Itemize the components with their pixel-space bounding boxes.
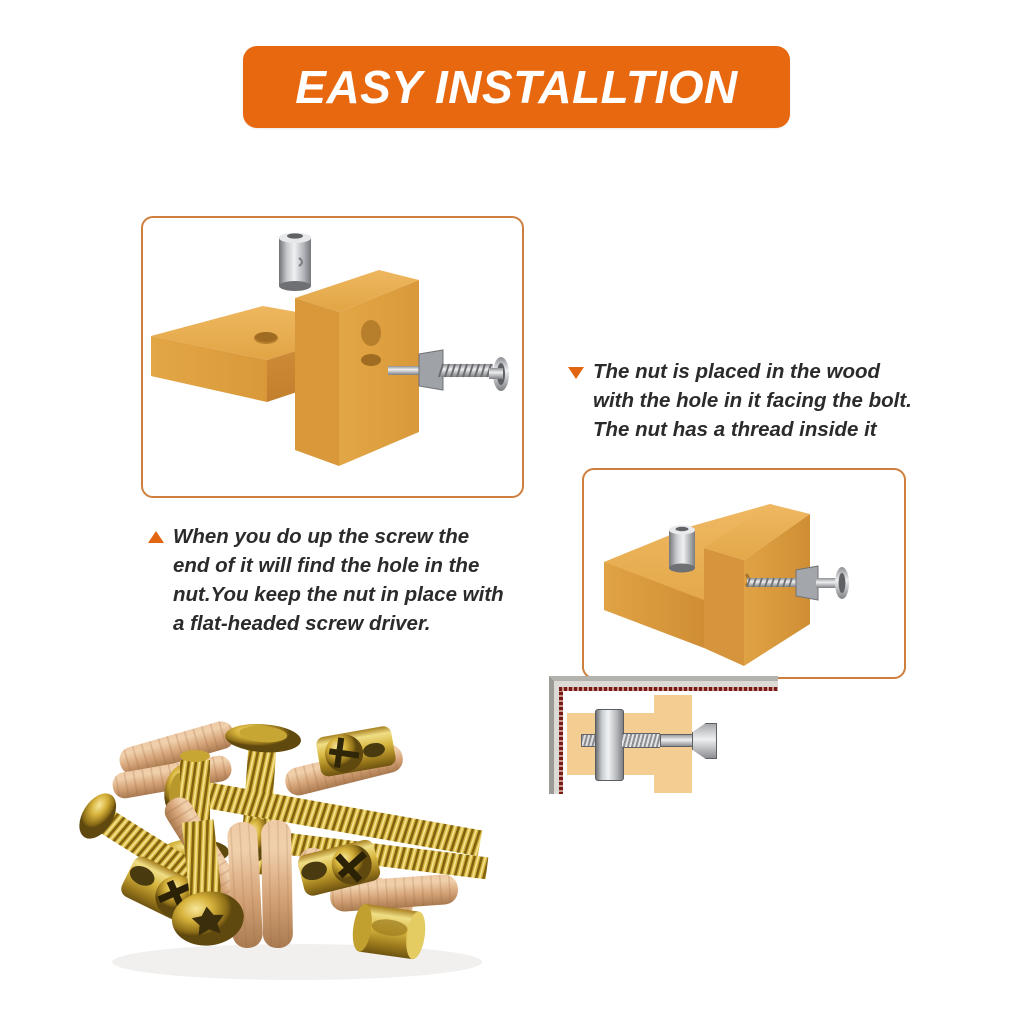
callout-nut-text: The nut is placed in the wood with the h… xyxy=(593,357,912,444)
triangle-down-icon xyxy=(568,367,584,379)
dowel-pin xyxy=(261,820,293,949)
cross-section-diagram xyxy=(549,676,778,794)
hardware-pile-illustration xyxy=(62,700,532,990)
exploded-view-illustration xyxy=(143,218,522,496)
cross-section-top-edge xyxy=(559,687,778,691)
hardware-photo xyxy=(62,700,532,990)
barrel-nut xyxy=(350,903,428,961)
cross-section-bolt-head xyxy=(692,723,717,759)
cross-section-barrel-nut xyxy=(595,709,624,781)
infographic-root: EASY INSTALLTION xyxy=(0,0,1024,1024)
callout-screw: When you do up the screw the end of it w… xyxy=(148,522,538,638)
triangle-up-icon xyxy=(148,531,164,543)
header-banner: EASY INSTALLTION xyxy=(243,46,790,128)
callout-screw-text: When you do up the screw the end of it w… xyxy=(173,522,504,638)
assembled-view-illustration xyxy=(584,470,904,677)
barrel-nut-seated xyxy=(669,526,695,573)
barrel-nut-floating xyxy=(279,233,311,291)
cross-section-left-edge xyxy=(559,687,563,794)
cross-section-bolt-thread xyxy=(622,733,660,748)
cross-section-inner xyxy=(559,687,778,794)
panel-exploded-view xyxy=(141,216,524,498)
callout-nut: The nut is placed in the wood with the h… xyxy=(568,357,918,444)
cross-section-bolt-shank xyxy=(660,734,696,747)
page-title: EASY INSTALLTION xyxy=(295,60,737,114)
panel-assembled-view xyxy=(582,468,906,679)
